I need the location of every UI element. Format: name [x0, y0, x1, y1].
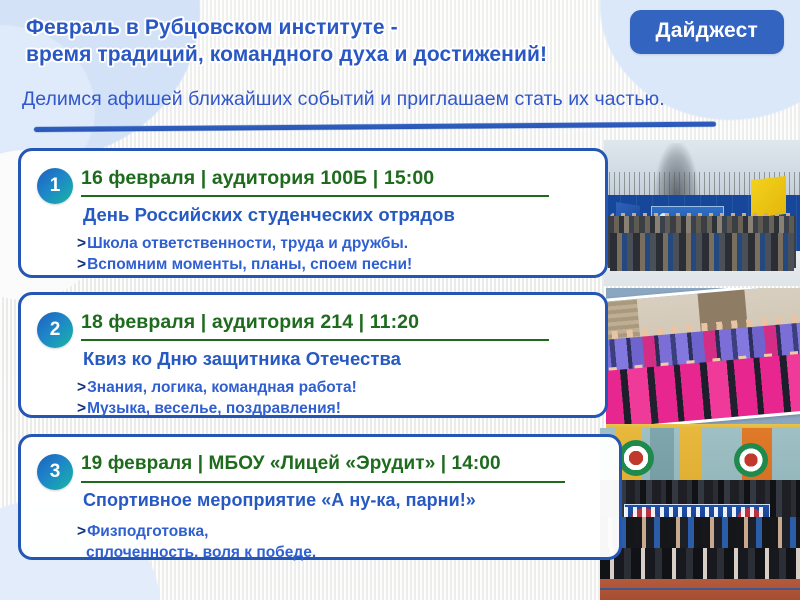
list-item: сплоченность, воля к победе.	[77, 542, 607, 563]
page-title: Февраль в Рубцовском институте - время т…	[26, 14, 646, 68]
event-meta: 16 февраля | аудитория 100Б | 15:00	[81, 167, 587, 190]
event-card-2[interactable]: 2 18 февраля | аудитория 214 | 11:20 Кви…	[18, 292, 608, 418]
winter-group-photo	[604, 140, 800, 286]
list-item: >Физподготовка,	[77, 521, 607, 542]
list-item: >Вспомним моменты, планы, споем песни!	[77, 254, 593, 275]
chevron-right-icon: >	[77, 523, 86, 540]
event-title: Спортивное мероприятие «А ну-ка, парни!»	[83, 490, 605, 511]
list-item-text: сплоченность, воля к победе.	[86, 544, 316, 561]
photo2-frame	[606, 288, 800, 428]
event-card-1[interactable]: 1 16 февраля | аудитория 100Б | 15:00 Де…	[18, 148, 608, 278]
chevron-right-icon: >	[77, 379, 86, 396]
list-item-text: Вспомним моменты, планы, споем песни!	[87, 256, 412, 273]
digest-badge[interactable]: Дайджест	[630, 10, 784, 54]
photo3-floor-line	[600, 588, 800, 590]
event-number-badge: 3	[37, 454, 73, 490]
event-number-badge: 2	[37, 312, 73, 348]
list-item: >Знания, логика, командная работа!	[77, 377, 593, 398]
list-item-text: Физподготовка,	[87, 523, 208, 540]
list-item-text: Знания, логика, командная работа!	[87, 379, 357, 396]
chevron-right-icon: >	[77, 256, 86, 273]
photo1-yellow-flag	[751, 176, 786, 218]
list-item-text: Музыка, веселье, поздравления!	[87, 400, 341, 417]
page-title-line-2: время традиций, командного духа и достиж…	[26, 41, 646, 68]
event-title: Квиз ко Дню защитника Отечества	[83, 348, 591, 370]
photo3-target-left	[618, 440, 654, 476]
event-bullets: >Школа ответственности, труда и дружбы. …	[77, 233, 593, 275]
event-bullets: >Знания, логика, командная работа! >Музы…	[77, 377, 593, 419]
choir-students-photo	[606, 288, 800, 428]
event-meta: 18 февраля | аудитория 214 | 11:20	[81, 311, 587, 334]
event-rule	[81, 195, 549, 197]
event-title: День Российских студенческих отрядов	[83, 204, 591, 226]
page-title-line-1: Февраль в Рубцовском институте -	[26, 16, 398, 39]
gym-competition-photo	[600, 428, 800, 600]
event-meta: 19 февраля | МБОУ «Лицей «Эрудит» | 14:0…	[81, 453, 601, 475]
event-number-badge: 1	[37, 168, 73, 204]
event-bullets: >Физподготовка, сплоченность, воля к поб…	[77, 521, 607, 563]
page-subtitle: Делимся афишей ближайших событий и пригл…	[22, 88, 665, 111]
photo1-crowd-front	[610, 233, 794, 271]
list-item: >Музыка, веселье, поздравления!	[77, 398, 593, 419]
chevron-right-icon: >	[77, 400, 86, 417]
event-rule	[81, 481, 565, 483]
poster-canvas: Февраль в Рубцовском институте - время т…	[0, 0, 800, 600]
event-rule	[81, 339, 549, 341]
chevron-right-icon: >	[77, 235, 86, 252]
list-item-text: Школа ответственности, труда и дружбы.	[87, 235, 408, 252]
list-item: >Школа ответственности, труда и дружбы.	[77, 233, 593, 254]
event-card-3[interactable]: 3 19 февраля | МБОУ «Лицей «Эрудит» | 14…	[18, 434, 622, 560]
photo3-floor	[600, 579, 800, 600]
